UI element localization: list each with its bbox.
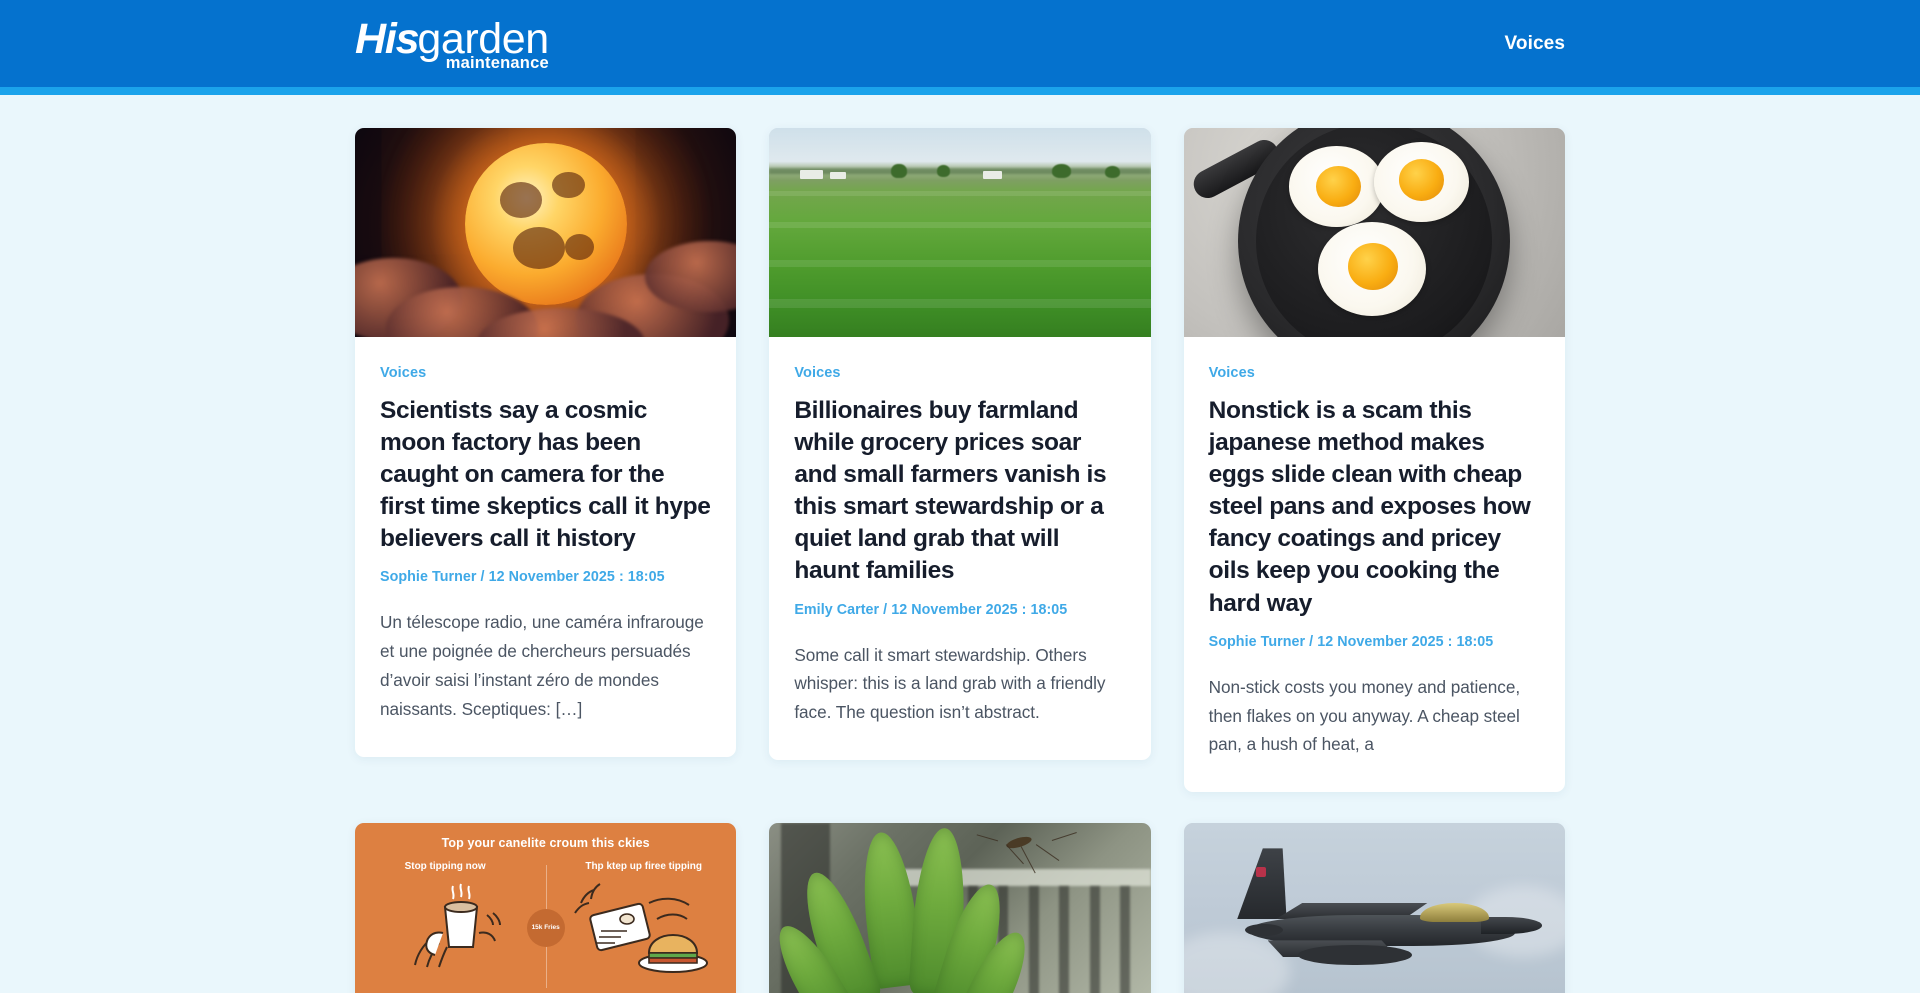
railing-slat	[1059, 886, 1069, 993]
tree-shape	[937, 165, 950, 178]
mosquito-leg	[977, 834, 999, 841]
header-inner: Hisgarden maintenance Voices	[0, 16, 1920, 72]
orange-tipping-infographic-illustration: Top your canelite croum this ckies Stop …	[355, 823, 736, 993]
egg-yolk	[1399, 159, 1444, 201]
post-thumbnail-link[interactable]: Top your canelite croum this ckies Stop …	[355, 823, 736, 993]
moon-crater	[552, 172, 584, 198]
field-stripe	[769, 191, 1150, 196]
post-title: Nonstick is a scam this japanese method …	[1209, 395, 1540, 620]
egg-yolk	[1316, 166, 1361, 208]
jet-exhaust	[1245, 924, 1283, 937]
tree-shape	[1105, 166, 1120, 179]
fried-egg	[1318, 222, 1427, 316]
post-category-link[interactable]: Voices	[380, 365, 426, 381]
farm-building	[830, 172, 845, 179]
site-logo[interactable]: Hisgarden maintenance	[355, 16, 549, 72]
post-card[interactable]: Voices Scientists say a cosmic moon fact…	[355, 128, 736, 757]
post-thumbnail-link[interactable]	[355, 128, 736, 337]
post-meta: Sophie Turner / 12 November 2025 : 18:05	[380, 569, 711, 585]
post-grid: Voices Scientists say a cosmic moon fact…	[355, 87, 1565, 993]
post-thumbnail-link[interactable]	[769, 823, 1150, 993]
post-card-body: Voices Scientists say a cosmic moon fact…	[355, 337, 736, 757]
infographic-left-label: Stop tipping now	[405, 861, 486, 872]
mosquito-leg	[1051, 832, 1076, 841]
three-fried-eggs-in-black-pan-photo	[1184, 128, 1565, 337]
main-navigation: Voices	[1505, 33, 1565, 55]
infographic-heading: Top your canelite croum this ckies	[355, 836, 736, 850]
post-title: Scientists say a cosmic moon factory has…	[380, 395, 711, 555]
post-card[interactable]: Voices Nonstick is a scam this japanese …	[1184, 128, 1565, 792]
nav-link-voices[interactable]: Voices	[1505, 33, 1565, 55]
tree-shape	[1052, 164, 1071, 179]
farm-building	[983, 171, 1002, 179]
post-card[interactable]: Voices	[1184, 823, 1565, 993]
infographic-badge: 15k Fries	[527, 909, 565, 947]
glowing-orange-moon-above-clouds-photo	[355, 128, 736, 337]
post-card[interactable]: Voices Billionaires buy farmland while g…	[769, 128, 1150, 760]
moon-disc-shape	[465, 143, 627, 305]
grey-fighter-jet-in-flight-photo	[1184, 823, 1565, 993]
field-stripe	[769, 260, 1150, 267]
green-farmland-field-landscape-photo	[769, 128, 1150, 337]
post-excerpt: Some call it smart stewardship. Others w…	[794, 641, 1125, 728]
post-meta: Sophie Turner / 12 November 2025 : 18:05	[1209, 634, 1540, 650]
jet-fuel-pod	[1298, 945, 1412, 966]
railing-slat	[1090, 886, 1100, 993]
post-excerpt: Non-stick costs you money and patience, …	[1209, 673, 1540, 760]
railing-slat	[1120, 886, 1130, 993]
farm-building	[800, 170, 823, 179]
post-category-link[interactable]: Voices	[794, 365, 840, 381]
moon-crater	[565, 234, 594, 260]
post-card-body: Voices Nonstick is a scam this japanese …	[1184, 337, 1565, 792]
infographic-right-label: Thp ktep up firee tipping	[585, 861, 702, 872]
site-logo-his: His	[355, 18, 418, 61]
post-meta: Emily Carter / 12 November 2025 : 18:05	[794, 602, 1125, 618]
hand-with-card-and-burger-sketch	[565, 879, 713, 979]
moon-crater	[500, 182, 542, 218]
post-card[interactable]: Voices	[769, 823, 1150, 993]
hedge-row	[769, 168, 1150, 174]
post-thumbnail-link[interactable]	[1184, 128, 1565, 337]
site-header: Hisgarden maintenance Voices	[0, 0, 1920, 87]
post-thumbnail-link[interactable]	[1184, 823, 1565, 993]
post-title-link[interactable]: Billionaires buy farmland while grocery …	[794, 397, 1106, 584]
post-card-body: Voices Billionaires buy farmland while g…	[769, 337, 1150, 760]
post-thumbnail-link[interactable]	[769, 128, 1150, 337]
post-excerpt: Un télescope radio, une caméra infraroug…	[380, 608, 711, 724]
tree-shape	[891, 164, 906, 179]
jet-vertical-stabilizer	[1237, 848, 1287, 919]
mosquito-leg	[1036, 844, 1060, 861]
pan-inner-surface	[1256, 128, 1492, 337]
fried-egg	[1374, 142, 1468, 222]
post-title-link[interactable]: Nonstick is a scam this japanese method …	[1209, 397, 1531, 617]
page-body: Voices Scientists say a cosmic moon fact…	[0, 87, 1920, 993]
field-stripe	[769, 299, 1150, 307]
railing-slat	[1029, 886, 1039, 993]
post-title: Billionaires buy farmland while grocery …	[794, 395, 1125, 588]
snake-plant-with-mosquito-on-balcony-photo	[769, 823, 1150, 993]
post-category-link[interactable]: Voices	[1209, 365, 1255, 381]
pan-body	[1238, 128, 1510, 337]
post-card[interactable]: Top your canelite croum this ckies Stop …	[355, 823, 736, 993]
fried-egg	[1289, 146, 1383, 226]
jet-roundel-marking	[1256, 867, 1266, 877]
hand-holding-cup-sketch	[401, 881, 521, 973]
field-stripe	[769, 222, 1150, 228]
post-title-link[interactable]: Scientists say a cosmic moon factory has…	[380, 397, 711, 552]
moon-crater	[513, 227, 565, 269]
egg-yolk	[1348, 243, 1398, 290]
